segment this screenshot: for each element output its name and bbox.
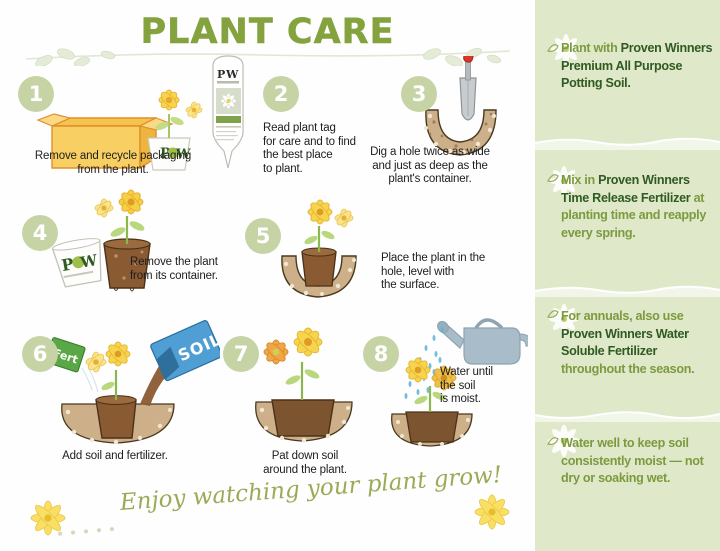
step-badge-3: 3 (401, 76, 437, 112)
step-caption-3: Dig a hole twice as wide and just as dee… (325, 146, 535, 187)
leaf-bullet-icon-3 (547, 308, 559, 320)
svg-text:W: W (225, 68, 239, 81)
plant-care-infographic: PLANT CARE 1 P W (0, 0, 720, 551)
soil-and-fertilizer-icon: SOIL Fert (40, 316, 220, 446)
step-badge-1: 1 (18, 76, 54, 112)
step-caption-8: Water until the soil is moist. (440, 366, 540, 407)
step-caption-7: Pat down soil around the plant. (215, 450, 395, 477)
step-badge-7: 7 (223, 336, 259, 372)
step-caption-5: Place the plant in the hole, level with … (381, 252, 521, 293)
leaf-bullet-icon-1 (547, 42, 559, 54)
tip-text-1: Plant with Proven Winners Premium All Pu… (561, 40, 713, 93)
patted-soil-icon (238, 316, 368, 444)
page-title: PLANT CARE (0, 12, 535, 52)
step-badge-5: 5 (245, 218, 281, 254)
leaf-bullet-icon-4 (547, 435, 559, 447)
tip-text-4: Water well to keep soil consistently moi… (561, 435, 713, 488)
steps-container: 1 P W (0, 58, 535, 478)
header: PLANT CARE (0, 8, 535, 56)
step-caption-6: Add soil and fertilizer. (10, 450, 220, 464)
step-caption-1: Remove and recycle packaging from the pl… (8, 150, 218, 177)
wave-divider-1 (535, 136, 720, 150)
svg-text:P: P (217, 68, 225, 81)
wave-divider-2 (535, 283, 720, 297)
tip-text-2: Mix in Proven Winners Time Release Ferti… (561, 172, 713, 242)
step-badge-8: 8 (363, 336, 399, 372)
plant-in-hole-icon (270, 194, 390, 302)
leaf-bullet-icon-2 (547, 172, 559, 184)
step-badge-2: 2 (263, 76, 299, 112)
step-badge-6: 6 (22, 336, 58, 372)
tips-sidebar: Plant with Proven Winners Premium All Pu… (535, 0, 720, 551)
yellow-flower-right-icon (466, 486, 518, 538)
step-caption-4: Remove the plant from its container. (130, 256, 250, 283)
footer: Enjoy watching your plant grow! (0, 478, 535, 551)
main-panel: PLANT CARE 1 P W (0, 0, 535, 551)
step-badge-4: 4 (22, 215, 58, 251)
tip-text-3: For annuals, also use Proven Winners Wat… (561, 308, 713, 378)
wave-divider-3 (535, 408, 720, 422)
